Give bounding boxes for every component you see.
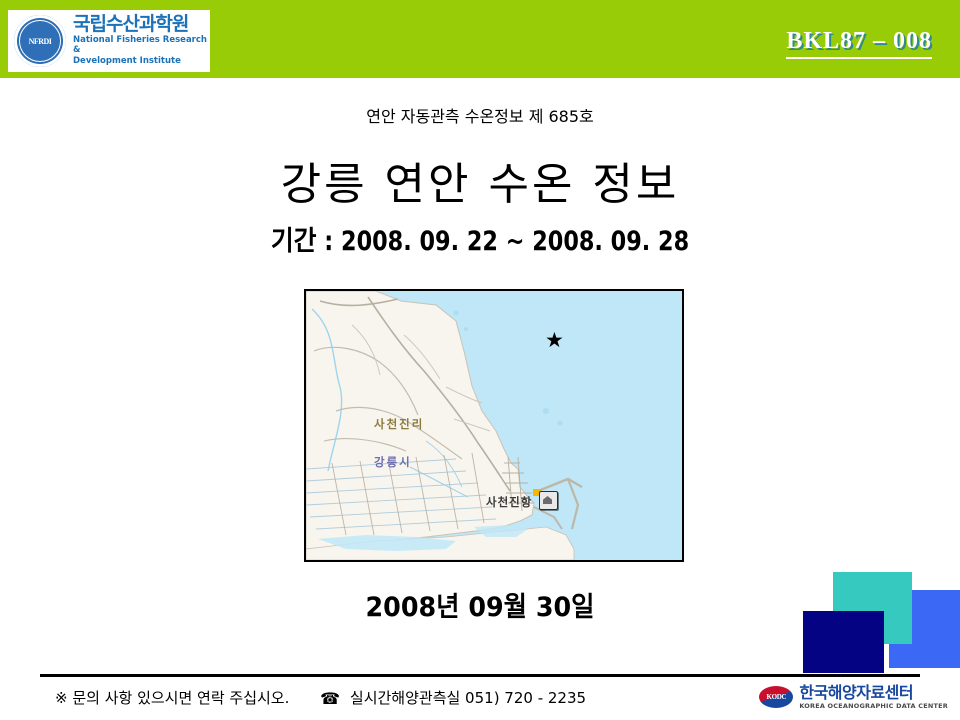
institute-name-kr: 국립수산과학원 xyxy=(73,15,210,35)
institute-logo: NFRDI 국립수산과학원 National Fisheries Researc… xyxy=(8,10,210,72)
document-code: BKL87 – 008 xyxy=(786,28,932,59)
institute-name-en-line1: National Fisheries Research & xyxy=(73,36,210,56)
report-subtitle: 연안 자동관측 수온정보 제 685호 xyxy=(0,103,960,127)
decor-square-navy xyxy=(803,611,884,673)
footer-contact-text: 실시간해양관측실 051) 720 - 2235 xyxy=(350,689,586,707)
kodc-logo-text: 한국해양자료센터 KOREA OCEANOGRAPHIC DATA CENTER xyxy=(799,685,948,710)
kodc-mark-icon: KODC xyxy=(759,686,793,708)
harbor-icon xyxy=(539,491,558,510)
map-label-village: 사천진리 xyxy=(374,416,424,432)
map-label-port: 사천진항 xyxy=(486,494,532,510)
kodc-logo: KODC 한국해양자료센터 KOREA OCEANOGRAPHIC DATA C… xyxy=(759,685,948,710)
header-bar: NFRDI 국립수산과학원 National Fisheries Researc… xyxy=(0,0,960,78)
institute-logo-text: 국립수산과학원 National Fisheries Research & De… xyxy=(73,15,210,66)
phone-icon: ☎ xyxy=(320,689,340,708)
kodc-name-kr: 한국해양자료센터 xyxy=(799,685,948,702)
issue-date: 2008년 09월 30일 xyxy=(29,585,931,624)
map-label-city: 강릉시 xyxy=(374,454,412,470)
nfrdi-seal-label: NFRDI xyxy=(29,37,52,46)
map-graphic xyxy=(306,291,682,560)
footer-divider xyxy=(40,674,920,677)
footer-contact-line: ※ 문의 사항 있으시면 연락 주십시오. ☎ 실시간해양관측실 051) 72… xyxy=(55,687,586,708)
institute-name-en-line2: Development Institute xyxy=(73,57,210,67)
kodc-name-en: KOREA OCEANOGRAPHIC DATA CENTER xyxy=(799,703,948,710)
observation-period: 기간 : 2008. 09. 22 ~ 2008. 09. 28 xyxy=(38,219,921,258)
footer-note-text: ※ 문의 사항 있으시면 연락 주십시오. xyxy=(55,689,289,707)
location-map: ★ 사천진리 강릉시 사천진항 xyxy=(304,289,684,562)
page-title: 강릉 연안 수온 정보 xyxy=(0,148,960,212)
nfrdi-seal-icon: NFRDI xyxy=(14,15,66,67)
observation-station-marker: ★ xyxy=(545,330,564,351)
kodc-mark-label: KODC xyxy=(766,693,786,701)
